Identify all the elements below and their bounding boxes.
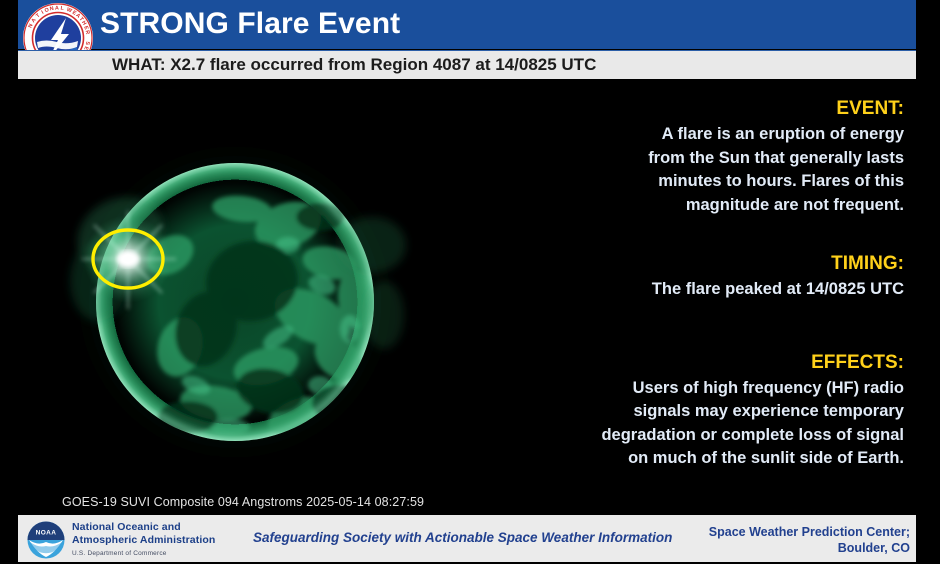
issuing-center-line-2: Boulder, CO bbox=[709, 540, 910, 556]
effects-line-4: on much of the sunlit side of Earth. bbox=[574, 447, 904, 471]
noaa-logo-wordmark: NOAA bbox=[36, 530, 57, 537]
issuing-center-line-1: Space Weather Prediction Center; bbox=[709, 524, 910, 540]
alert-title: STRONG Flare Event bbox=[100, 5, 400, 43]
event-line-2: from the Sun that generally lasts bbox=[574, 147, 904, 171]
solar-image-caption: GOES-19 SUVI Composite 094 Angstroms 202… bbox=[62, 495, 424, 509]
alert-details-panel: EVENT: A flare is an eruption of energy … bbox=[574, 96, 904, 475]
agency-line-3: U.S. Department of Commerce bbox=[72, 548, 215, 559]
timing-heading: TIMING: bbox=[574, 251, 904, 276]
svg-text:A: A bbox=[55, 5, 59, 11]
event-line-4: magnitude are not frequent. bbox=[574, 194, 904, 218]
effects-heading: EFFECTS: bbox=[574, 350, 904, 375]
noaa-seagull-logo-icon: NOAA bbox=[26, 521, 66, 559]
timing-line-1: The flare peaked at 14/0825 UTC bbox=[574, 278, 904, 302]
alert-title-rest: Flare Event bbox=[229, 7, 400, 40]
issuing-center: Space Weather Prediction Center; Boulder… bbox=[709, 524, 910, 556]
alert-severity-word: STRONG bbox=[100, 7, 229, 40]
effects-line-1: Users of high frequency (HF) radio bbox=[574, 377, 904, 401]
event-line-1: A flare is an eruption of energy bbox=[574, 123, 904, 147]
effects-block: EFFECTS: Users of high frequency (HF) ra… bbox=[574, 350, 904, 471]
event-heading: EVENT: bbox=[574, 96, 904, 121]
event-block: EVENT: A flare is an eruption of energy … bbox=[574, 96, 904, 217]
space-weather-alert-graphic: N A T I O N A L W E A T H E R S E R V I bbox=[0, 0, 940, 562]
timing-block: TIMING: The flare peaked at 14/0825 UTC bbox=[574, 251, 904, 302]
event-line-3: minutes to hours. Flares of this bbox=[574, 170, 904, 194]
mission-tagline: Safeguarding Society with Actionable Spa… bbox=[253, 530, 672, 545]
effects-line-3: degradation or complete loss of signal bbox=[574, 424, 904, 448]
what-summary-line: WHAT: X2.7 flare occurred from Region 40… bbox=[112, 52, 596, 77]
agency-name: National Oceanic and Atmospheric Adminis… bbox=[72, 521, 215, 559]
solar-image-panel bbox=[20, 85, 540, 495]
suvi-solar-disk-image bbox=[20, 85, 540, 495]
agency-line-1: National Oceanic and bbox=[72, 521, 215, 534]
effects-line-2: signals may experience temporary bbox=[574, 400, 904, 424]
agency-line-2: Atmospheric Administration bbox=[72, 534, 215, 547]
